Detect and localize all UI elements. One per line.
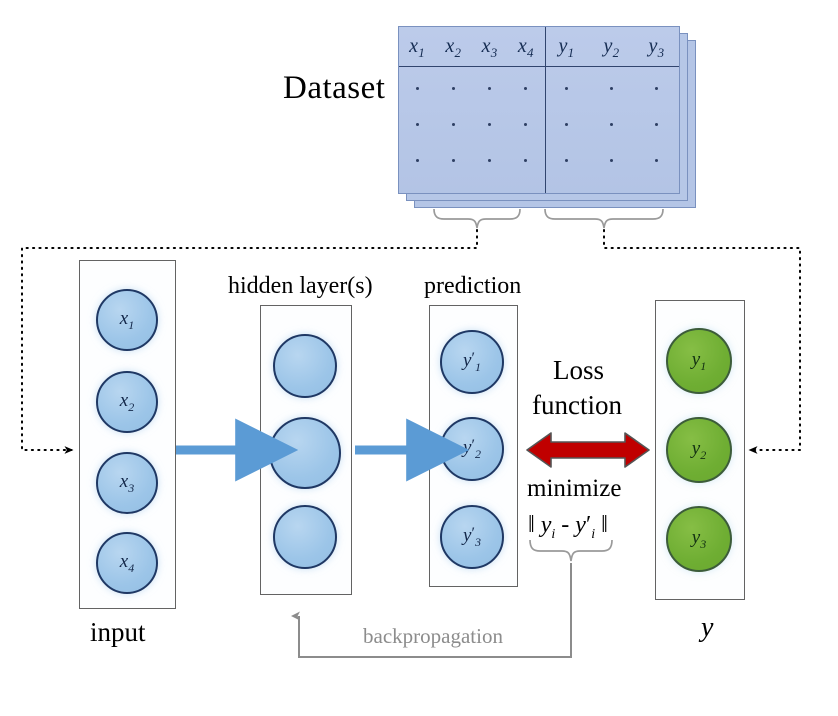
neuron-output-y2: y2 — [666, 417, 732, 483]
brace-y-columns — [545, 209, 663, 228]
table-cell-placeholder — [655, 159, 658, 162]
loss-function-label-line2: function — [532, 390, 622, 421]
table-cell-placeholder — [655, 123, 658, 126]
table-header-row: x1 x2 x3 x4 y1 y2 y3 — [399, 29, 679, 66]
table-row-y-cells — [544, 155, 679, 165]
loss-double-arrow — [527, 433, 649, 467]
table-cell-placeholder — [488, 87, 491, 90]
table-cell-placeholder — [488, 123, 491, 126]
table-header-y2: y2 — [603, 35, 619, 61]
brace-x-columns — [434, 209, 520, 228]
neuron-prediction-y3: y′3 — [440, 505, 504, 569]
neuron-prediction-y1: y′1 — [440, 330, 504, 394]
table-cell-placeholder — [416, 123, 419, 126]
table-cell-placeholder — [610, 159, 613, 162]
table-cell-placeholder — [452, 87, 455, 90]
norm-y-base: y — [541, 512, 552, 538]
norm-yprime-base: y — [575, 512, 586, 538]
table-cell-placeholder — [565, 159, 568, 162]
table-header-x2: x2 — [445, 35, 461, 61]
minimize-label: minimize — [527, 475, 621, 503]
table-row — [399, 83, 679, 93]
neuron-input-x2: x2 — [96, 371, 158, 433]
table-cell-placeholder — [416, 87, 419, 90]
table-cell-placeholder — [524, 159, 527, 162]
loss-function-label-line1: Loss — [553, 355, 604, 386]
neuron-prediction-y2: y′2 — [440, 417, 504, 481]
table-cell-placeholder — [452, 123, 455, 126]
loss-norm-expression: ‖ yi - y′i ‖ — [528, 512, 608, 543]
table-cell-placeholder — [565, 87, 568, 90]
table-cell-placeholder — [452, 159, 455, 162]
table-body-rows — [399, 69, 679, 181]
neuron-input-x1: x1 — [96, 289, 158, 351]
table-cell-placeholder — [524, 87, 527, 90]
neuron-hidden-2 — [269, 417, 341, 489]
diagram-canvas: x1 x2 x3 x4 y1 y2 y3 Dataset x1 x2 x3 x4 — [0, 0, 838, 716]
table-header-x4: x4 — [518, 35, 534, 61]
norm-y-sub: i — [551, 527, 555, 542]
norm-minus: - — [561, 512, 569, 538]
input-layer-label: input — [90, 617, 146, 648]
table-cell-placeholder — [565, 123, 568, 126]
table-row — [399, 155, 679, 165]
table-row-x-cells — [399, 155, 544, 165]
neuron-input-x4: x4 — [96, 532, 158, 594]
table-header-x1: x1 — [409, 35, 425, 61]
table-header-rule — [399, 66, 679, 67]
table-row-x-cells — [399, 83, 544, 93]
table-row — [399, 119, 679, 129]
brace-loss — [530, 540, 612, 561]
y-header-group: y1 y2 y3 — [544, 29, 679, 66]
norm-bar-open: ‖ — [528, 512, 535, 538]
table-cell-placeholder — [416, 159, 419, 162]
table-cell-placeholder — [524, 123, 527, 126]
table-cell-placeholder — [655, 87, 658, 90]
hidden-layer-label: hidden layer(s) — [228, 273, 373, 300]
backpropagation-label: backpropagation — [363, 624, 503, 649]
table-header-y1: y1 — [558, 35, 574, 61]
table-cell-placeholder — [610, 87, 613, 90]
table-row-x-cells — [399, 119, 544, 129]
output-layer-label: y — [701, 612, 713, 644]
neuron-hidden-1 — [273, 334, 337, 398]
dataset-label: Dataset — [283, 70, 385, 107]
neuron-output-y3: y3 — [666, 506, 732, 572]
norm-yprime-sub: i — [591, 527, 595, 542]
table-header-x3: x3 — [482, 35, 498, 61]
table-cell-placeholder — [488, 159, 491, 162]
neuron-output-y1: y1 — [666, 328, 732, 394]
norm-bar-close: ‖ — [601, 512, 608, 538]
prediction-layer-label: prediction — [424, 273, 521, 300]
neuron-hidden-3 — [273, 505, 337, 569]
table-row-y-cells — [544, 119, 679, 129]
dataset-table-card: x1 x2 x3 x4 y1 y2 y3 — [398, 26, 680, 194]
neuron-input-x3: x3 — [96, 452, 158, 514]
table-row-y-cells — [544, 83, 679, 93]
x-header-group: x1 x2 x3 x4 — [399, 29, 544, 66]
table-cell-placeholder — [610, 123, 613, 126]
table-header-y3: y3 — [648, 35, 664, 61]
